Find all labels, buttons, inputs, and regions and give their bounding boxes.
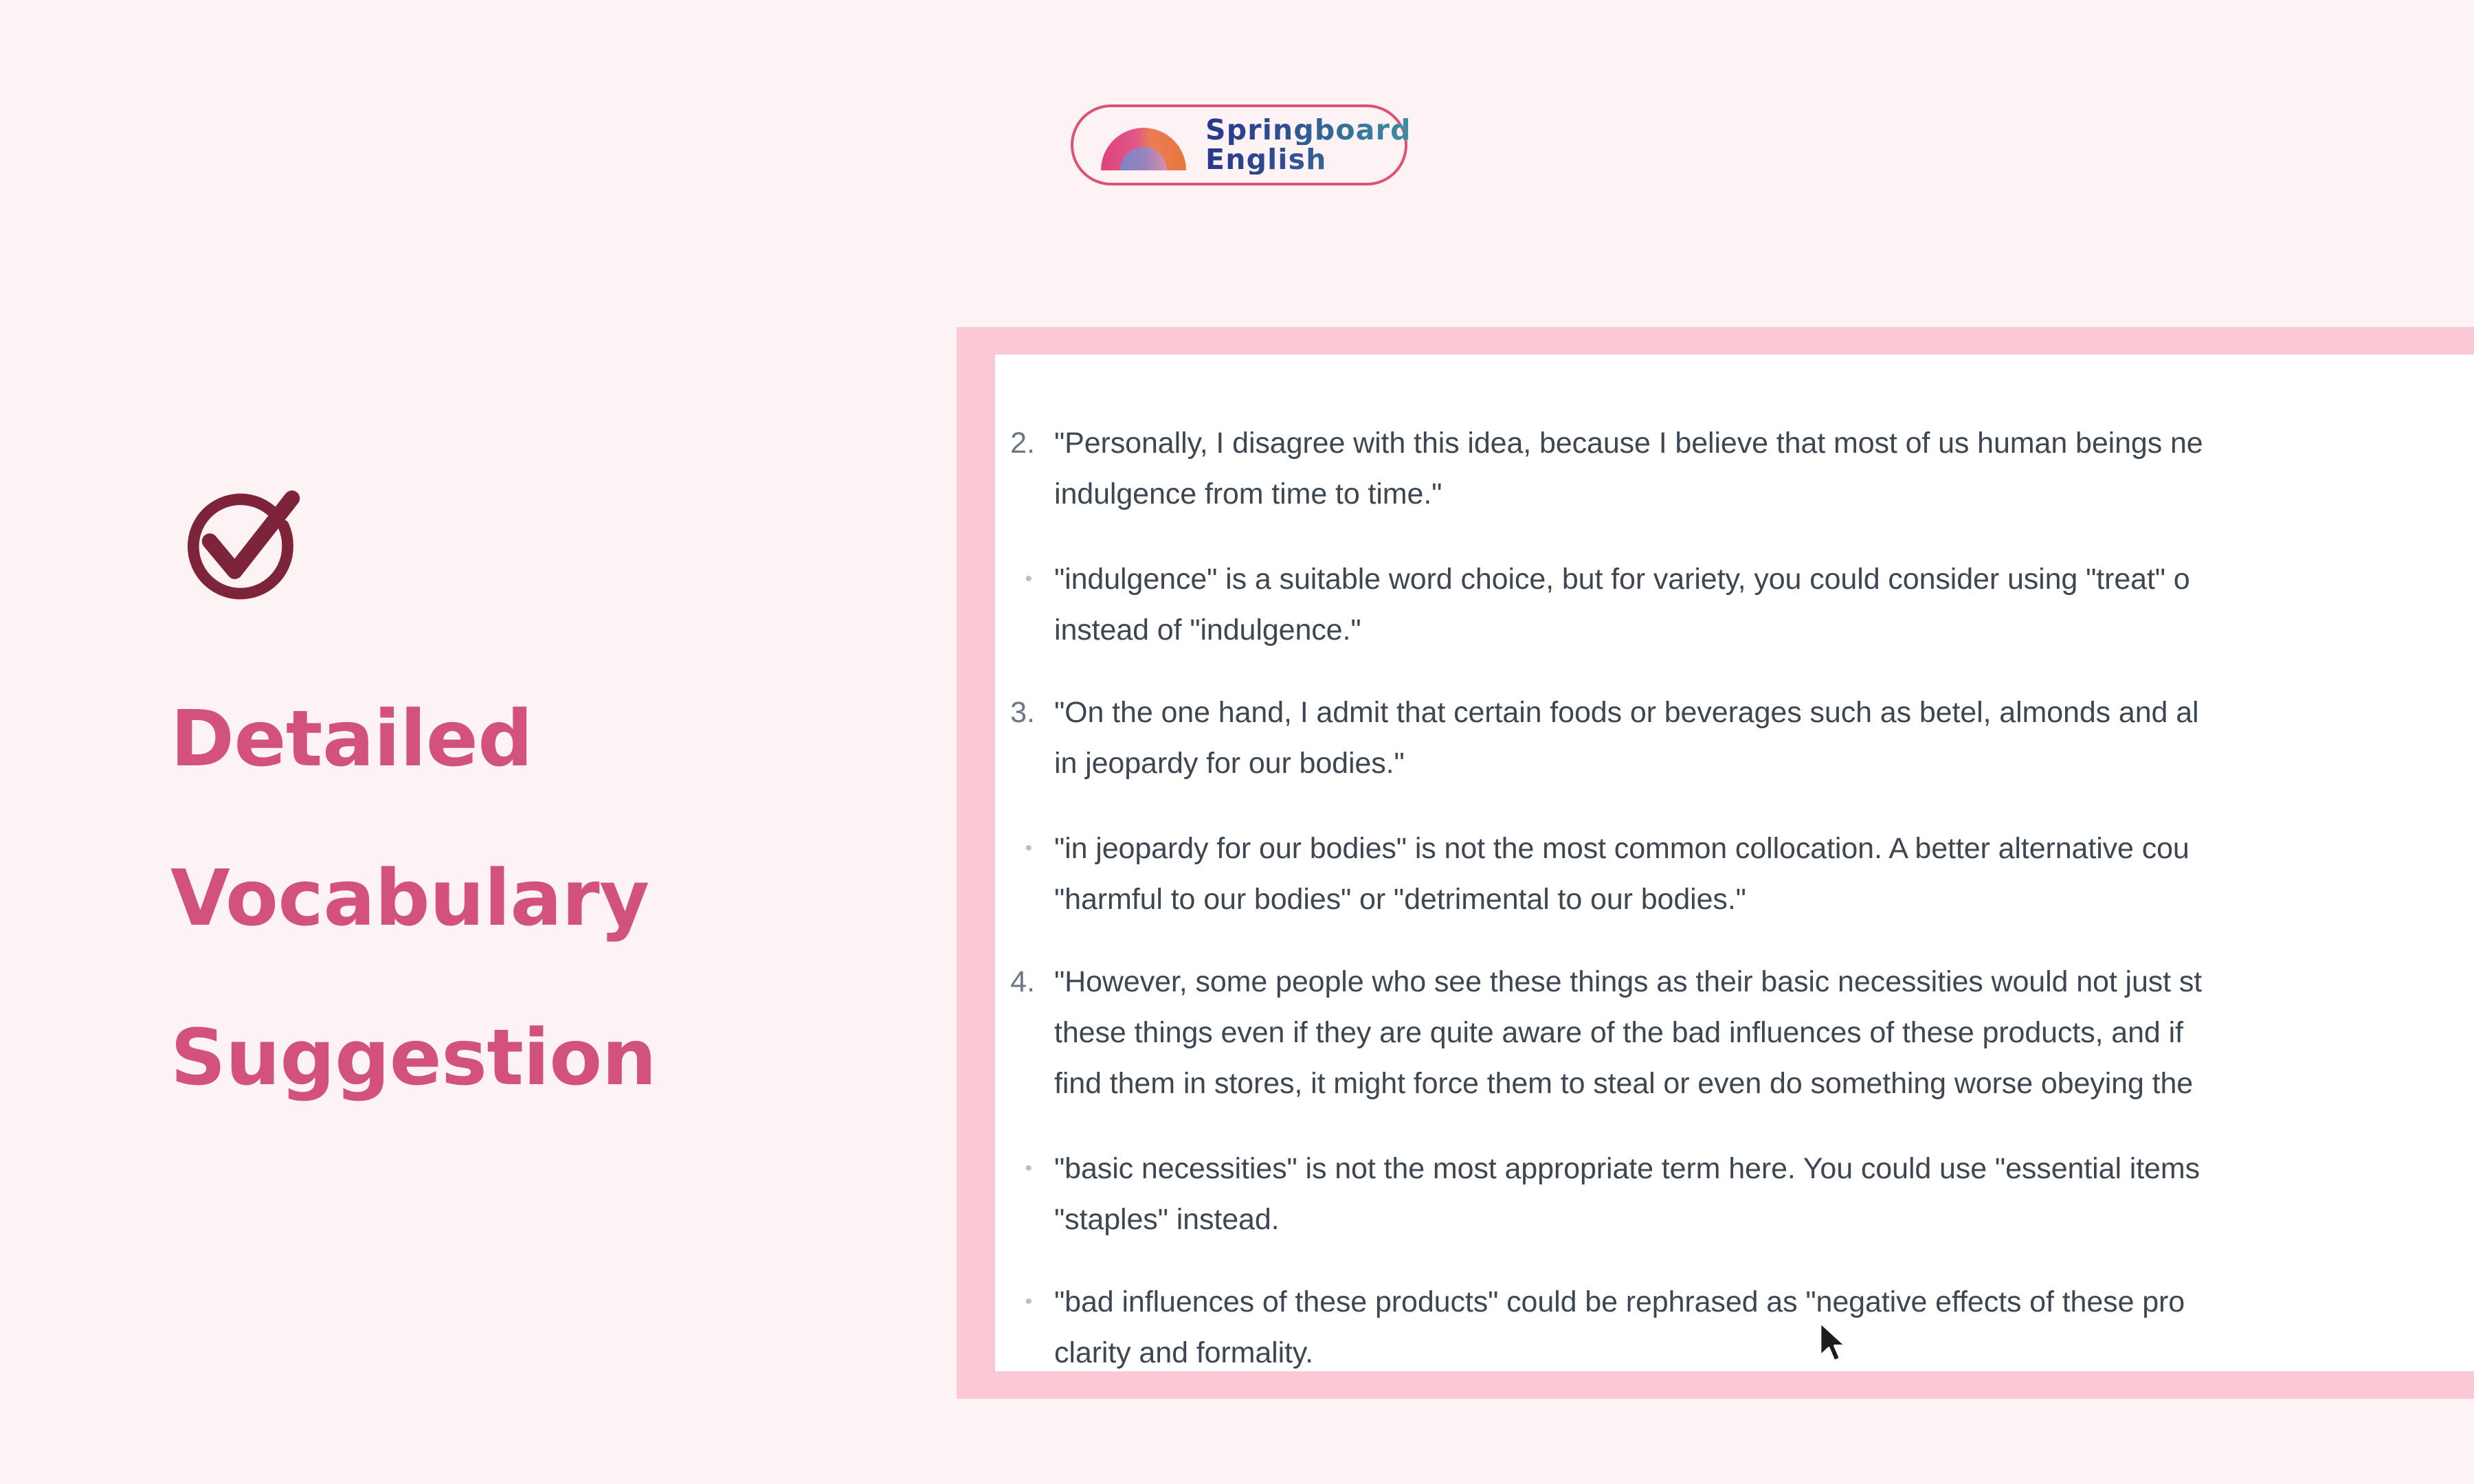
list-item-text: "However, some people who see these thin… <box>1054 956 2202 1109</box>
text-line: "bad influences of these products" could… <box>1054 1277 2185 1327</box>
list-bullet-marker: • <box>995 554 1054 605</box>
text-line: find them in stores, it might force them… <box>1054 1058 2202 1109</box>
list-number-marker: 4. <box>995 956 1054 1007</box>
feedback-list: 2."Personally, I disagree with this idea… <box>995 418 2474 1371</box>
feedback-quote-item: 4."However, some people who see these th… <box>995 956 2474 1109</box>
text-line: in jeopardy for our bodies." <box>1054 738 2199 789</box>
feedback-suggestion-item: •"basic necessities" is not the most app… <box>995 1143 2474 1245</box>
brand-logo-pill[interactable]: Springboard English <box>1071 104 1407 185</box>
text-line: "in jeopardy for our bodies" is not the … <box>1054 823 2189 874</box>
feedback-suggestion-item: •"in jeopardy for our bodies" is not the… <box>995 823 2474 925</box>
list-item-text: "indulgence" is a suitable word choice, … <box>1054 554 2190 655</box>
wordmark-line-2: English <box>1205 145 1412 175</box>
text-line: these things even if they are quite awar… <box>1054 1007 2202 1058</box>
feedback-quote-item: 2."Personally, I disagree with this idea… <box>995 418 2474 519</box>
text-line: "harmful to our bodies" or "detrimental … <box>1054 874 2189 925</box>
text-line: "staples" instead. <box>1054 1194 2200 1245</box>
text-line: "On the one hand, I admit that certain f… <box>1054 687 2199 738</box>
page-title-line-1: Detailed <box>170 660 913 819</box>
text-line: "basic necessities" is not the most appr… <box>1054 1143 2200 1194</box>
rainbow-arc-logo-icon <box>1100 118 1188 172</box>
text-line: "However, some people who see these thin… <box>1054 956 2202 1007</box>
list-item-text: "bad influences of these products" could… <box>1054 1277 2185 1371</box>
list-bullet-marker: • <box>995 1143 1054 1194</box>
hero-section: Detailed Vocabulary Suggestion <box>170 474 913 1138</box>
page-title-line-2: Vocabulary <box>170 819 913 978</box>
feedback-quote-item: 3."On the one hand, I admit that certain… <box>995 687 2474 789</box>
page-title-line-3: Suggestion <box>170 978 913 1138</box>
list-bullet-marker: • <box>995 823 1054 874</box>
list-item-text: "Personally, I disagree with this idea, … <box>1054 418 2203 519</box>
document-panel-frame: 2."Personally, I disagree with this idea… <box>957 327 2474 1399</box>
document-sheet[interactable]: 2."Personally, I disagree with this idea… <box>995 355 2474 1371</box>
list-number-marker: 2. <box>995 418 1054 469</box>
text-line: indulgence from time to time." <box>1054 469 2203 519</box>
list-number-marker: 3. <box>995 687 1054 738</box>
brand-wordmark: Springboard English <box>1205 115 1412 175</box>
list-bullet-marker: • <box>995 1277 1054 1327</box>
text-line: "indulgence" is a suitable word choice, … <box>1054 554 2190 605</box>
list-item-text: "On the one hand, I admit that certain f… <box>1054 687 2199 789</box>
feedback-suggestion-item: •"bad influences of these products" coul… <box>995 1277 2474 1371</box>
page-title: Detailed Vocabulary Suggestion <box>170 617 913 1138</box>
list-item-text: "in jeopardy for our bodies" is not the … <box>1054 823 2189 925</box>
text-line: "Personally, I disagree with this idea, … <box>1054 418 2203 469</box>
wordmark-line-1: Springboard <box>1205 115 1412 145</box>
text-line: instead of "indulgence." <box>1054 605 2190 655</box>
text-line: clarity and formality. <box>1054 1327 2185 1371</box>
feedback-suggestion-item: •"indulgence" is a suitable word choice,… <box>995 554 2474 655</box>
check-circle-icon <box>170 474 313 617</box>
list-item-text: "basic necessities" is not the most appr… <box>1054 1143 2200 1245</box>
